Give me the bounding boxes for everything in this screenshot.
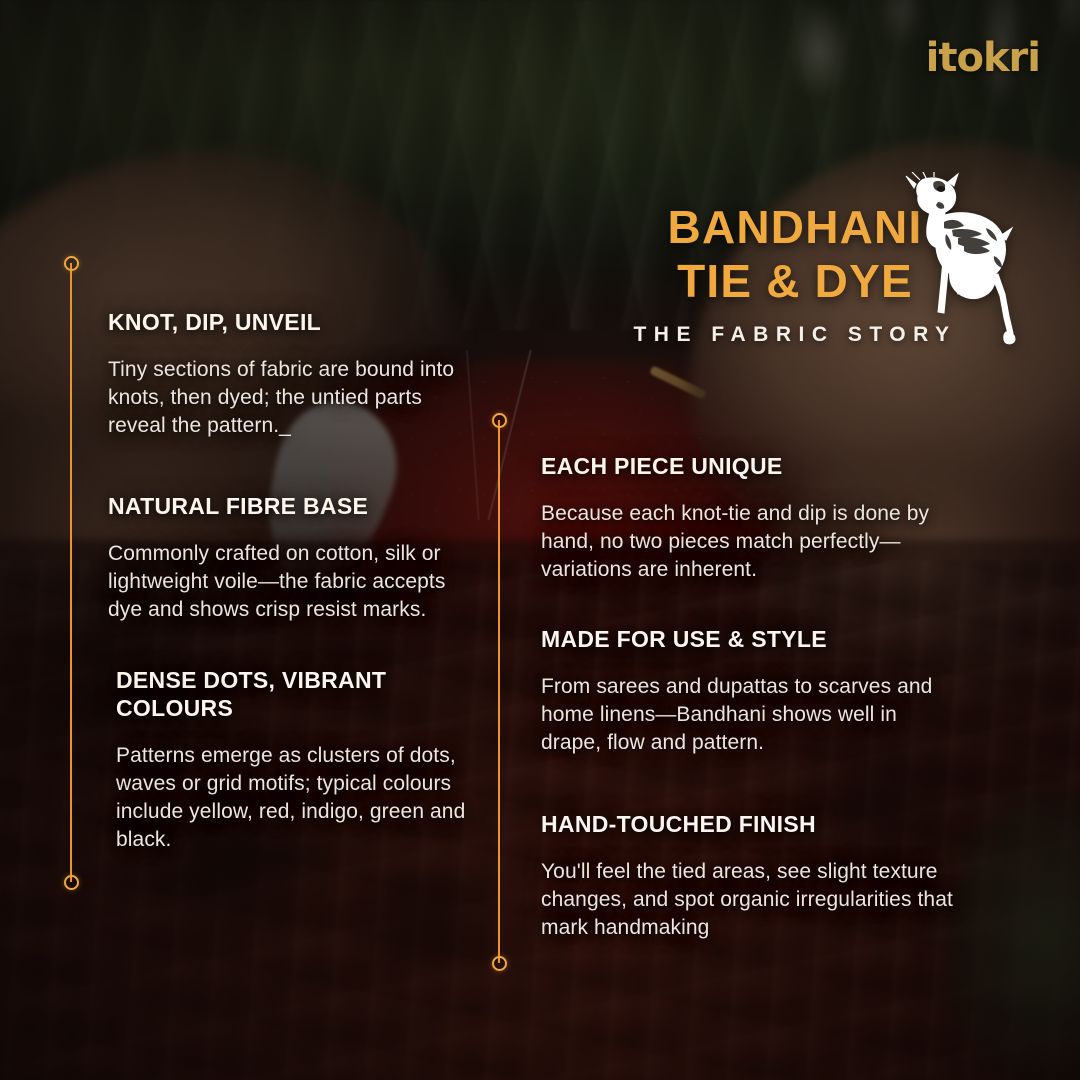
info-block-heading: DENSE DOTS, VIBRANT COLOURS — [110, 666, 482, 722]
timeline-rail-right — [491, 420, 507, 963]
info-block-heading: NATURAL FIBRE BASE — [108, 492, 480, 520]
rail-node-left-top — [64, 256, 79, 271]
info-block-heading: MADE FOR USE & STYLE — [541, 625, 949, 653]
poster-content: itokri BANDHANI TIE & DYE THE FABRIC STO… — [0, 0, 1080, 1080]
info-block-natural-fibre-base: NATURAL FIBRE BASE Commonly crafted on c… — [108, 492, 480, 624]
info-block-made-for-use-and-style: MADE FOR USE & STYLE From sarees and dup… — [541, 625, 949, 757]
rail-line-right — [498, 420, 500, 963]
info-block-heading: EACH PIECE UNIQUE — [541, 452, 949, 480]
itokri-logo[interactable]: itokri — [926, 38, 1040, 78]
infographic-poster: itokri BANDHANI TIE & DYE THE FABRIC STO… — [0, 0, 1080, 1080]
info-block-heading: KNOT, DIP, UNVEIL — [108, 308, 480, 336]
rail-node-right-top — [492, 413, 507, 428]
info-block-body: Commonly crafted on cotton, silk or ligh… — [108, 540, 480, 624]
goat-illustration-icon — [900, 172, 1025, 347]
info-block-heading: HAND-TOUCHED FINISH — [541, 810, 961, 838]
info-block-body: Patterns emerge as clusters of dots, wav… — [110, 742, 482, 854]
rail-line-left — [70, 263, 72, 882]
info-block-each-piece-unique: EACH PIECE UNIQUE Because each knot-tie … — [541, 452, 949, 584]
info-block-hand-touched-finish: HAND-TOUCHED FINISH You'll feel the tied… — [541, 810, 961, 942]
info-block-body: Because each knot-tie and dip is done by… — [541, 500, 949, 584]
info-block-knot-dip-unveil: KNOT, DIP, UNVEIL Tiny sections of fabri… — [108, 308, 480, 440]
info-block-body: From sarees and dupattas to scarves and … — [541, 673, 949, 757]
timeline-rail-left — [63, 263, 79, 882]
info-block-body: You'll feel the tied areas, see slight t… — [541, 858, 961, 942]
rail-node-left-bottom — [64, 875, 79, 890]
rail-node-right-bottom — [492, 956, 507, 971]
info-block-body: Tiny sections of fabric are bound into k… — [108, 356, 480, 440]
info-block-dense-dots-vibrant-colours: DENSE DOTS, VIBRANT COLOURS Patterns eme… — [110, 666, 482, 854]
